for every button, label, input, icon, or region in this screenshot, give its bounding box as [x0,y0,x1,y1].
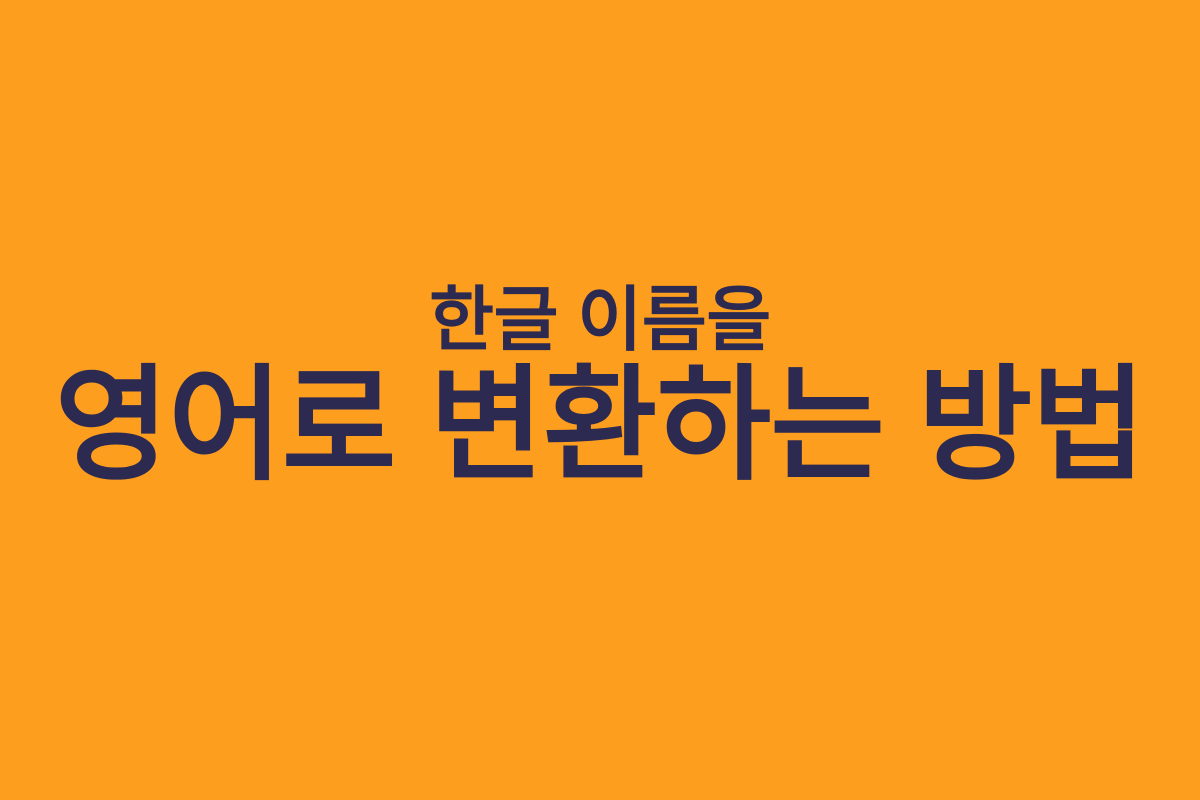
headline-line-2: 영어로 변환하는 방법 [0,359,1200,494]
title-card: 한글 이름을 영어로 변환하는 방법 [0,0,1200,800]
headline-line-1: 한글 이름을 [0,282,1200,359]
headline-block: 한글 이름을 영어로 변환하는 방법 [0,282,1200,494]
